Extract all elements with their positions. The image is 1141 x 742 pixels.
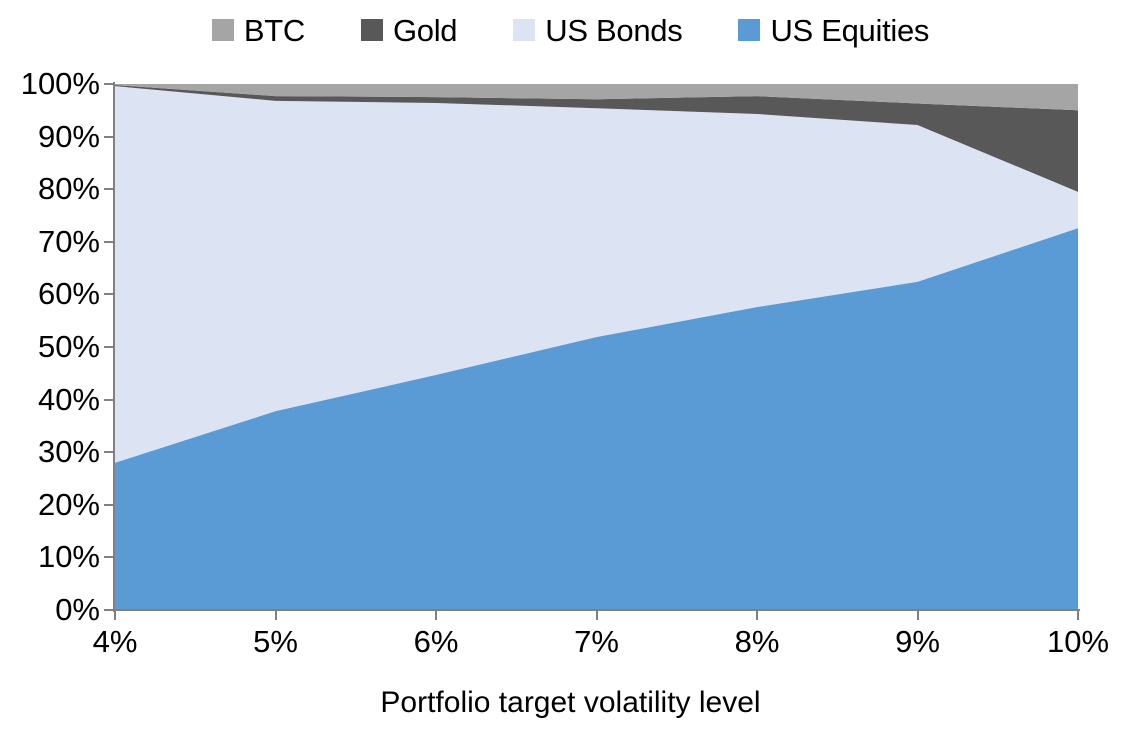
legend-label-btc: BTC (244, 15, 305, 46)
y-tick-mark (104, 346, 113, 348)
y-tick-label: 10% (0, 541, 100, 572)
y-axis-line (113, 82, 115, 612)
y-tick-mark (104, 504, 113, 506)
y-tick-mark (104, 556, 113, 558)
y-tick-mark (104, 609, 113, 611)
x-tick-mark (114, 611, 116, 620)
y-tick-label: 80% (0, 173, 100, 204)
x-tick-mark (596, 611, 598, 620)
x-tick-label: 7% (527, 626, 667, 657)
y-tick-mark (104, 293, 113, 295)
area-series-canvas (115, 84, 1078, 610)
legend-item-gold[interactable]: Gold (361, 15, 457, 46)
legend-item-us-bonds[interactable]: US Bonds (513, 15, 682, 46)
y-tick-mark (104, 451, 113, 453)
x-tick-label: 9% (848, 626, 988, 657)
legend-label-us-equities: US Equities (770, 15, 929, 46)
y-tick-label: 90% (0, 121, 100, 152)
legend-label-gold: Gold (393, 15, 457, 46)
y-tick-label: 100% (0, 68, 100, 99)
legend-swatch-btc-icon (212, 19, 234, 41)
x-tick-label: 6% (366, 626, 506, 657)
y-tick-mark (104, 241, 113, 243)
y-tick-label: 20% (0, 489, 100, 520)
y-tick-label: 70% (0, 226, 100, 257)
series-layer (115, 84, 1078, 610)
chart-legend: BTC Gold US Bonds US Equities (0, 8, 1141, 52)
x-tick-mark (917, 611, 919, 620)
legend-label-us-bonds: US Bonds (545, 15, 682, 46)
x-tick-mark (435, 611, 437, 620)
stacked-area-chart: BTC Gold US Bonds US Equities 100%90%80%… (0, 0, 1141, 742)
y-tick-mark (104, 399, 113, 401)
y-tick-mark (104, 188, 113, 190)
legend-swatch-gold-icon (361, 19, 383, 41)
y-tick-mark (104, 136, 113, 138)
y-tick-label: 0% (0, 594, 100, 625)
y-tick-label: 60% (0, 278, 100, 309)
legend-swatch-us-equities-icon (738, 19, 760, 41)
legend-item-btc[interactable]: BTC (212, 15, 305, 46)
x-tick-label: 5% (206, 626, 346, 657)
x-tick-mark (756, 611, 758, 620)
x-tick-label: 10% (1008, 626, 1141, 657)
x-axis-title: Portfolio target volatility level (0, 688, 1141, 718)
legend-item-us-equities[interactable]: US Equities (738, 15, 929, 46)
y-tick-label: 50% (0, 331, 100, 362)
x-tick-label: 8% (687, 626, 827, 657)
x-tick-label: 4% (45, 626, 185, 657)
y-tick-label: 30% (0, 436, 100, 467)
y-tick-mark (104, 83, 113, 85)
legend-swatch-us-bonds-icon (513, 19, 535, 41)
x-tick-mark (1077, 611, 1079, 620)
y-tick-label: 40% (0, 384, 100, 415)
plot-area (115, 84, 1078, 610)
x-tick-mark (275, 611, 277, 620)
